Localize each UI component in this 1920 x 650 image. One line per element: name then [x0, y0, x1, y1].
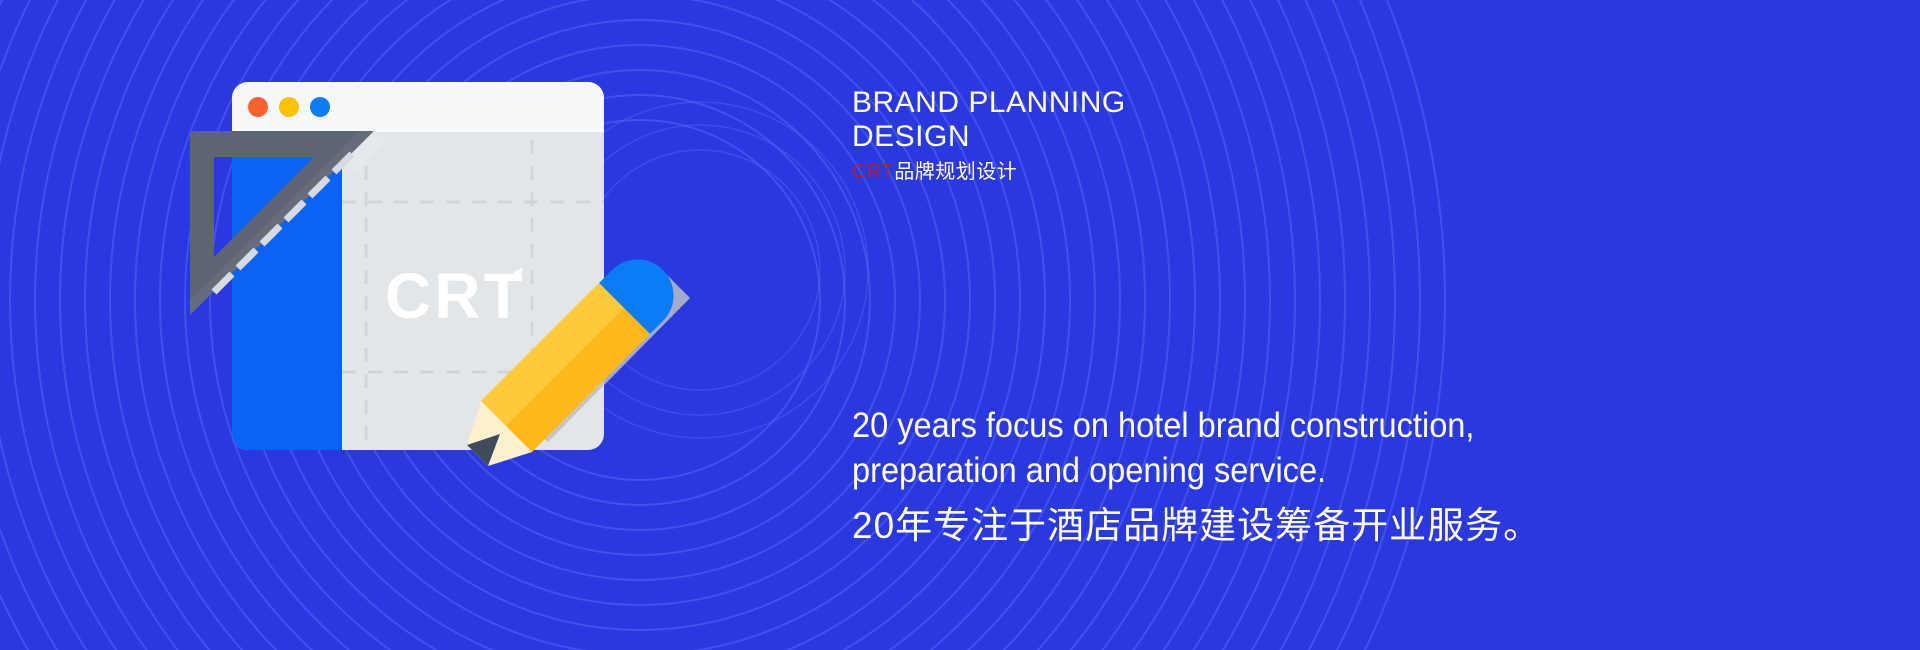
hero-banner: CRT	[0, 0, 1920, 650]
eyebrow-title-cn: CRT品牌规划设计	[852, 160, 1552, 184]
eyebrow-title-en: BRAND PLANNING DESIGN	[852, 86, 1552, 154]
brand-abbreviation: CRT	[852, 161, 894, 183]
headline-en: 20 years focus on hotel brand constructi…	[852, 404, 1708, 494]
headline-block: 20 years focus on hotel brand constructi…	[852, 404, 1772, 550]
brand-design-illustration: CRT	[0, 0, 900, 650]
svg-text:CRT: CRT	[385, 260, 526, 332]
eyebrow-title-cn-text: 品牌规划设计	[894, 161, 1017, 183]
crt-logo-mark: CRT	[385, 260, 526, 332]
headline-cn: 20年专注于酒店品牌建设筹备开业服务。	[852, 502, 1772, 550]
eyebrow-block: BRAND PLANNING DESIGN CRT品牌规划设计	[852, 86, 1552, 184]
